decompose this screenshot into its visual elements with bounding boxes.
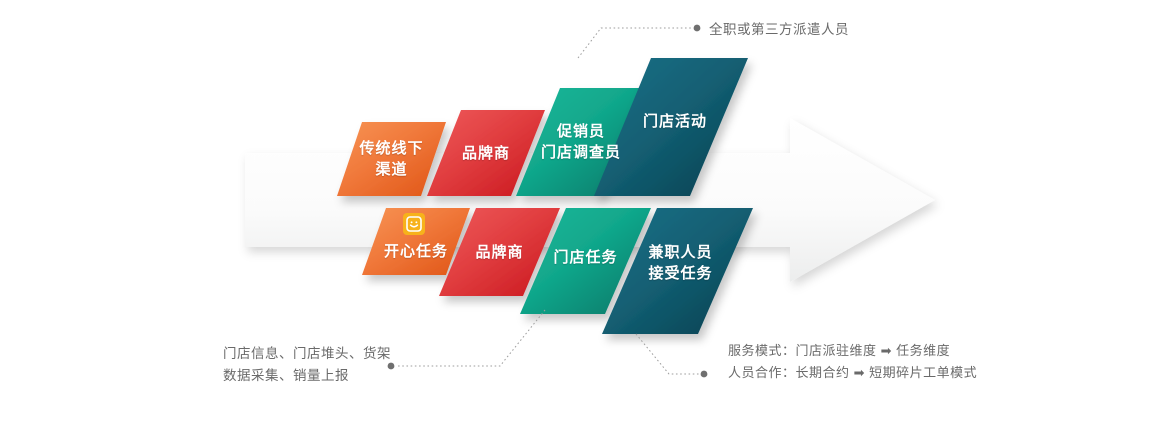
note-store-data-collection: 门店信息、门店堆头、货架 数据采集、销量上报 [223, 343, 391, 387]
note-line: 服务模式：门店派驻维度 ➡ 任务维度 [728, 340, 977, 362]
note-line: 门店信息、门店堆头、货架 [223, 343, 391, 365]
diagram-canvas: 传统线下 渠道 品牌商 促销员 门店调查员 门店活动 开心任务 [0, 0, 1150, 430]
tile-label-line: 接受任务 [648, 263, 712, 284]
leader-dot-bottom-right [701, 371, 708, 378]
note-service-and-cooperation: 服务模式：门店派驻维度 ➡ 任务维度 人员合作：长期合约 ➡ 短期碎片工单模式 [728, 340, 977, 384]
tile-label-line: 品牌商 [475, 242, 523, 263]
tile-label-line: 兼职人员 [648, 242, 712, 263]
tile-label-line: 门店任务 [553, 247, 617, 268]
tile-label-line: 促销员 [541, 121, 621, 142]
leader-dot-top-right [694, 25, 701, 32]
note-line: 数据采集、销量上报 [223, 365, 391, 387]
tile-label-line: 门店活动 [643, 111, 707, 132]
tile-label-line: 品牌商 [462, 143, 510, 164]
note-fulltime-dispatch: 全职或第三方派遣人员 [709, 19, 849, 41]
tile-label-line: 传统线下 [359, 138, 423, 159]
tile-label-line: 门店调查员 [541, 142, 621, 163]
note-line: 人员合作：长期合约 ➡ 短期碎片工单模式 [728, 362, 977, 384]
smiley-icon [403, 213, 425, 235]
label-parttime-accept-task[interactable]: 兼职人员 接受任务 [602, 208, 753, 334]
note-line: 全职或第三方派遣人员 [709, 19, 849, 41]
leader-line-bottom-right [636, 334, 699, 374]
leader-line-top-right [578, 28, 692, 58]
tile-label-line: 开心任务 [384, 241, 448, 262]
tile-label-line: 渠道 [359, 159, 423, 180]
leader-line-bottom-left [396, 310, 545, 366]
